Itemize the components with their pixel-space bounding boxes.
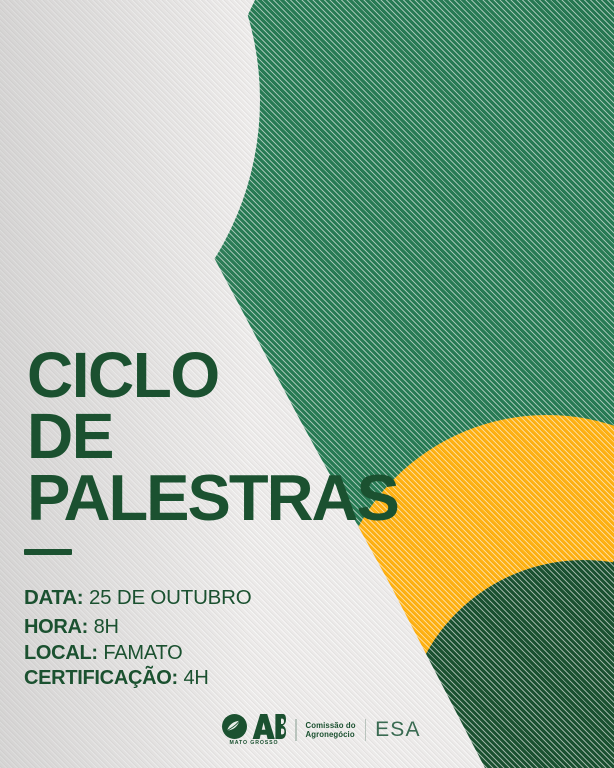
title-line-2: DE: [27, 406, 487, 467]
detail-label-hora: HORA:: [24, 616, 88, 638]
event-details-list: DATA: 25 DE OUTUBRO HORA: 8H LOCAL: FAMA…: [24, 585, 444, 692]
esa-label: ESA: [375, 718, 421, 742]
logo-lockup: MATO GROSSO Comissão do Agronegócio ESA: [222, 714, 421, 746]
detail-row-certificacao: CERTIFICAÇÃO: 4H: [24, 666, 444, 692]
commission-line-2: Agronegócio: [306, 730, 356, 739]
title-line-1: CICLO: [27, 345, 487, 406]
detail-label-certificacao: CERTIFICAÇÃO:: [24, 667, 178, 689]
commission-line-1: Comissão do: [306, 721, 356, 730]
detail-value-local: FAMATO: [103, 642, 182, 664]
poster-content: CICLO DE PALESTRAS DATA: 25 DE OUTUBRO H…: [0, 0, 614, 768]
commission-label: Comissão do Agronegócio: [306, 721, 356, 739]
detail-row-hora: HORA: 8H: [24, 615, 444, 641]
event-poster: CICLO DE PALESTRAS DATA: 25 DE OUTUBRO H…: [0, 0, 614, 768]
page-title: CICLO DE PALESTRAS: [27, 345, 487, 528]
detail-row-data: DATA: 25 DE OUTUBRO: [24, 585, 444, 611]
detail-label-local: LOCAL:: [24, 642, 98, 664]
title-line-3: PALESTRAS: [27, 467, 487, 529]
oab-letters-icon: [222, 714, 286, 739]
oab-wordmark-icon: [222, 714, 286, 739]
detail-row-local: LOCAL: FAMATO: [24, 641, 444, 667]
oab-logo: MATO GROSSO: [222, 714, 286, 746]
detail-value-data: 25 DE OUTUBRO: [89, 586, 252, 609]
logo-divider-2: [365, 719, 367, 741]
detail-value-certificacao: 4H: [183, 667, 208, 689]
detail-label-data: DATA:: [24, 586, 83, 609]
logo-divider-1: [295, 719, 297, 741]
oab-subtitle: MATO GROSSO: [230, 740, 279, 746]
title-divider-rule: [24, 549, 72, 555]
detail-value-hora: 8H: [94, 616, 119, 638]
